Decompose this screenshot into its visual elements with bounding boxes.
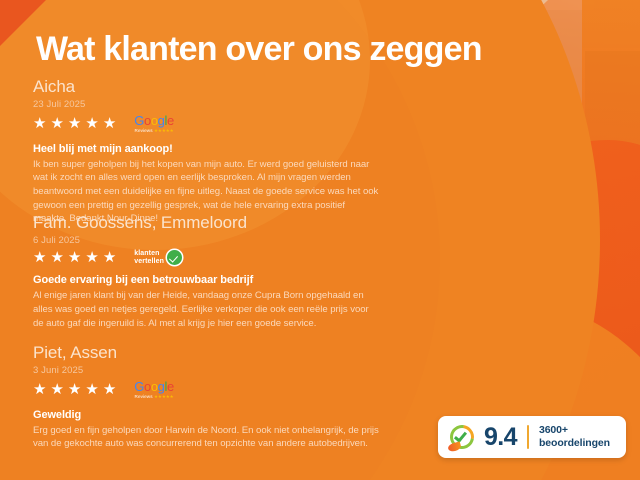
star-rating: ★ ★ ★ ★ ★ [33, 250, 116, 265]
review-card: Piet, Assen 3 Juni 2025 ★ ★ ★ ★ ★ Google… [33, 344, 413, 451]
divider [527, 425, 529, 449]
testimonial-banner: TDH Wat klanten over ons zeggen Aicha 23… [0, 0, 640, 480]
reviewer-name: Fam. Goossens, Emmeloord [33, 214, 413, 233]
review-date: 23 Juli 2025 [33, 99, 413, 110]
seal-swoosh [447, 441, 462, 452]
review-headline: Goede ervaring bij een betrouwbaar bedri… [33, 274, 413, 286]
review-meta: ★ ★ ★ ★ ★ Google Reviews ★★★★★ [33, 114, 413, 134]
star-icon: ★ [33, 250, 46, 265]
star-rating: ★ ★ ★ ★ ★ [33, 116, 116, 131]
star-icon: ★ [85, 116, 98, 131]
star-icon: ★ [68, 116, 81, 131]
review-card: Aicha 23 Juli 2025 ★ ★ ★ ★ ★ Google Revi… [33, 78, 413, 226]
star-icon: ★ [50, 382, 63, 397]
google-logo: Google Reviews ★★★★★ [134, 114, 174, 134]
kv-line-1: klanten [134, 250, 164, 258]
star-icon: ★ [85, 250, 98, 265]
reviewer-name: Piet, Assen [33, 344, 413, 363]
google-wordmark: Google [134, 380, 174, 393]
page-title: Wat klanten over ons zeggen [36, 32, 482, 66]
review-card: Fam. Goossens, Emmeloord 6 Juli 2025 ★ ★… [33, 214, 413, 330]
rating-count-number: 3600+ [539, 424, 610, 437]
review-date: 3 Juni 2025 [33, 365, 413, 376]
review-body: Erg goed en fijn geholpen door Harwin de… [33, 424, 381, 451]
star-icon: ★ [50, 116, 63, 131]
review-meta: ★ ★ ★ ★ ★ klanten vertellen [33, 250, 413, 266]
google-reviews-sub: Reviews ★★★★★ [135, 394, 174, 400]
star-icon: ★ [68, 250, 81, 265]
rating-count: 3600+ beoordelingen [539, 424, 610, 450]
review-meta: ★ ★ ★ ★ ★ Google Reviews ★★★★★ [33, 380, 413, 400]
google-wordmark: Google [134, 114, 174, 127]
google-reviews-sub: Reviews ★★★★★ [135, 128, 174, 134]
rating-count-label: beoordelingen [539, 437, 610, 450]
star-rating: ★ ★ ★ ★ ★ [33, 382, 116, 397]
content-layer: Wat klanten over ons zeggen Aicha 23 Jul… [0, 0, 640, 480]
checkmark-icon [167, 250, 182, 265]
kv-line-2: vertellen [134, 258, 164, 266]
rating-badge: 9.4 3600+ beoordelingen [438, 416, 626, 458]
star-icon: ★ [33, 382, 46, 397]
review-headline: Heel blij met mijn aankoop! [33, 143, 413, 155]
reviewer-name: Aicha [33, 78, 413, 97]
google-logo: Google Reviews ★★★★★ [134, 380, 174, 400]
star-icon: ★ [85, 382, 98, 397]
star-icon: ★ [33, 116, 46, 131]
review-body: Al enige jaren klant bij van der Heide, … [33, 289, 381, 330]
rating-score: 9.4 [484, 425, 517, 450]
review-headline: Geweldig [33, 409, 413, 421]
star-icon: ★ [68, 382, 81, 397]
klantenvertellen-seal-icon [450, 425, 474, 449]
star-icon: ★ [103, 382, 116, 397]
klantenvertellen-logo: klanten vertellen [134, 250, 182, 266]
star-icon: ★ [50, 250, 63, 265]
review-date: 6 Juli 2025 [33, 235, 413, 246]
star-icon: ★ [103, 250, 116, 265]
star-icon: ★ [103, 116, 116, 131]
klantenvertellen-wordmark: klanten vertellen [134, 250, 164, 266]
